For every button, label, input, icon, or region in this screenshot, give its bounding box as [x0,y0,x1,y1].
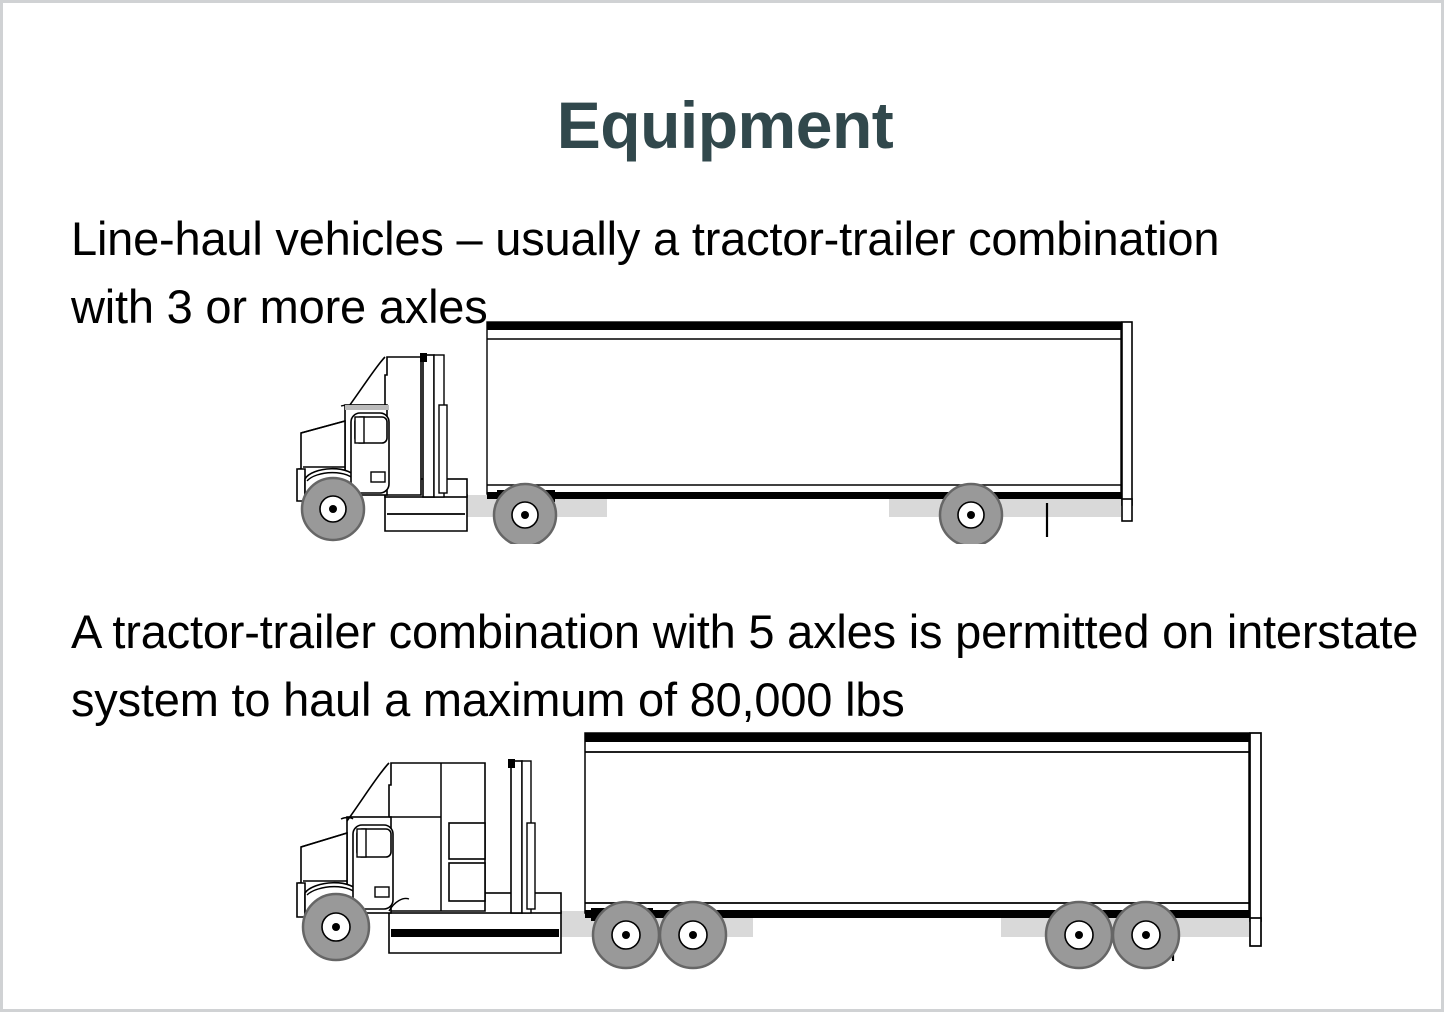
wheel-steer-axle [302,478,364,540]
cab-air-deflector [527,823,535,909]
exhaust-stack [423,355,434,497]
wheel-steer-axle [303,894,369,960]
presentation-slide: Equipment Line-haul vehicles – usually a… [0,0,1444,1012]
cab-door-handle [375,887,389,897]
tractor-trailer-3-axle-svg [289,309,1149,544]
wheel-drive-axle-1 [593,902,659,968]
wheel-trailer-axle-2 [1113,902,1179,968]
tractor-trailer-5-axle-svg [289,721,1279,1003]
wheel-trailer-axle-1 [1046,902,1112,968]
cab-air-deflector [439,405,447,493]
exhaust-stack [511,761,522,913]
page-title: Equipment [3,91,1444,160]
body-paragraph-weight-limit: A tractor-trailer combination with 5 axl… [71,598,1431,734]
truck-5-axle-illustration [289,721,1279,1003]
trailer-box [487,322,1132,521]
truck-3-axle-illustration [289,309,1149,544]
sleeper-window-upper [449,823,485,859]
cab-vent-window [357,829,366,857]
wheel-trailer-axle [940,484,1002,544]
cab-vent-window [355,417,364,443]
cab-door-handle [371,472,385,482]
wheel-drive-axle-2 [660,902,726,968]
wheel-drive-axle [494,484,556,544]
sleeper-window-lower [449,863,485,901]
